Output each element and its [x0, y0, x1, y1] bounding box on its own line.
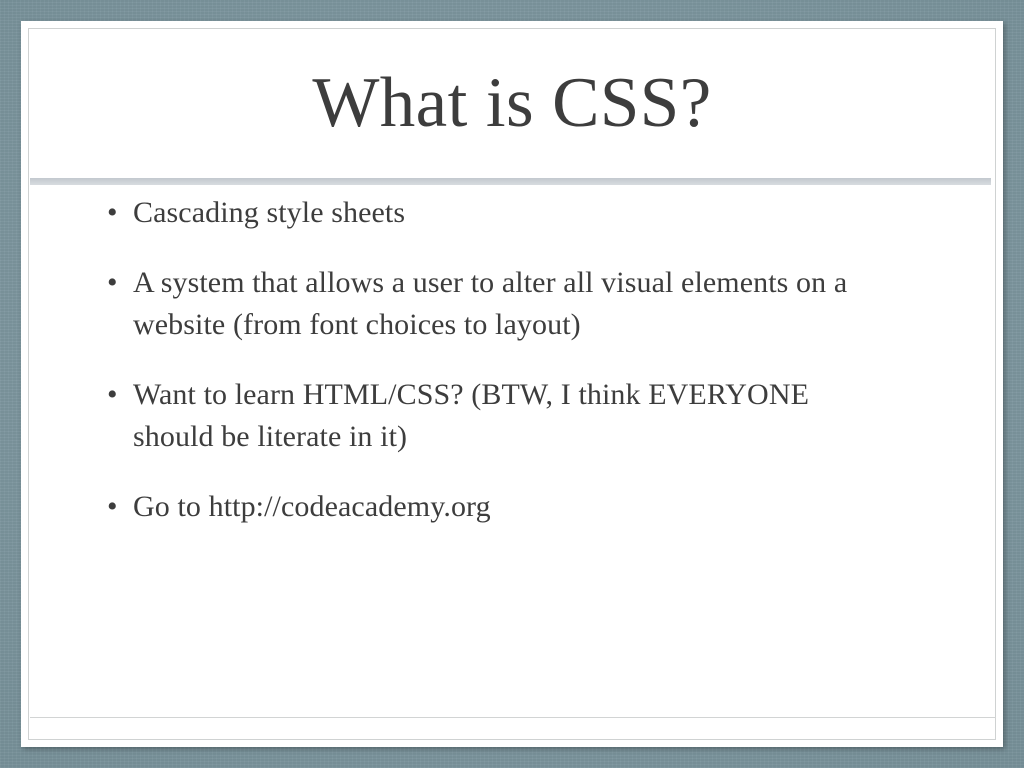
footer-divider — [30, 717, 996, 718]
bullet-text: Go to http://codeacademy.org — [133, 486, 881, 528]
bullet-text: A system that allows a user to alter all… — [133, 262, 881, 346]
slide-title-zone: What is CSS? — [29, 29, 995, 178]
slide-frame: What is CSS? • Cascading style sheets • … — [21, 21, 1003, 747]
list-item: • Cascading style sheets — [101, 192, 955, 234]
slide-content-panel: What is CSS? • Cascading style sheets • … — [28, 28, 996, 740]
bullet-text: Cascading style sheets — [133, 192, 881, 234]
list-item: • Want to learn HTML/CSS? (BTW, I think … — [101, 374, 955, 458]
list-item: • Go to http://codeacademy.org — [101, 486, 955, 528]
bullet-point-icon: • — [101, 374, 133, 416]
page-title: What is CSS? — [312, 68, 711, 139]
title-divider — [30, 178, 991, 185]
bullet-point-icon: • — [101, 262, 133, 304]
bullet-text: Want to learn HTML/CSS? (BTW, I think EV… — [133, 374, 881, 458]
list-item: • A system that allows a user to alter a… — [101, 262, 955, 346]
slide-body: • Cascading style sheets • A system that… — [29, 192, 995, 556]
bullet-point-icon: • — [101, 192, 133, 234]
bullet-point-icon: • — [101, 486, 133, 528]
